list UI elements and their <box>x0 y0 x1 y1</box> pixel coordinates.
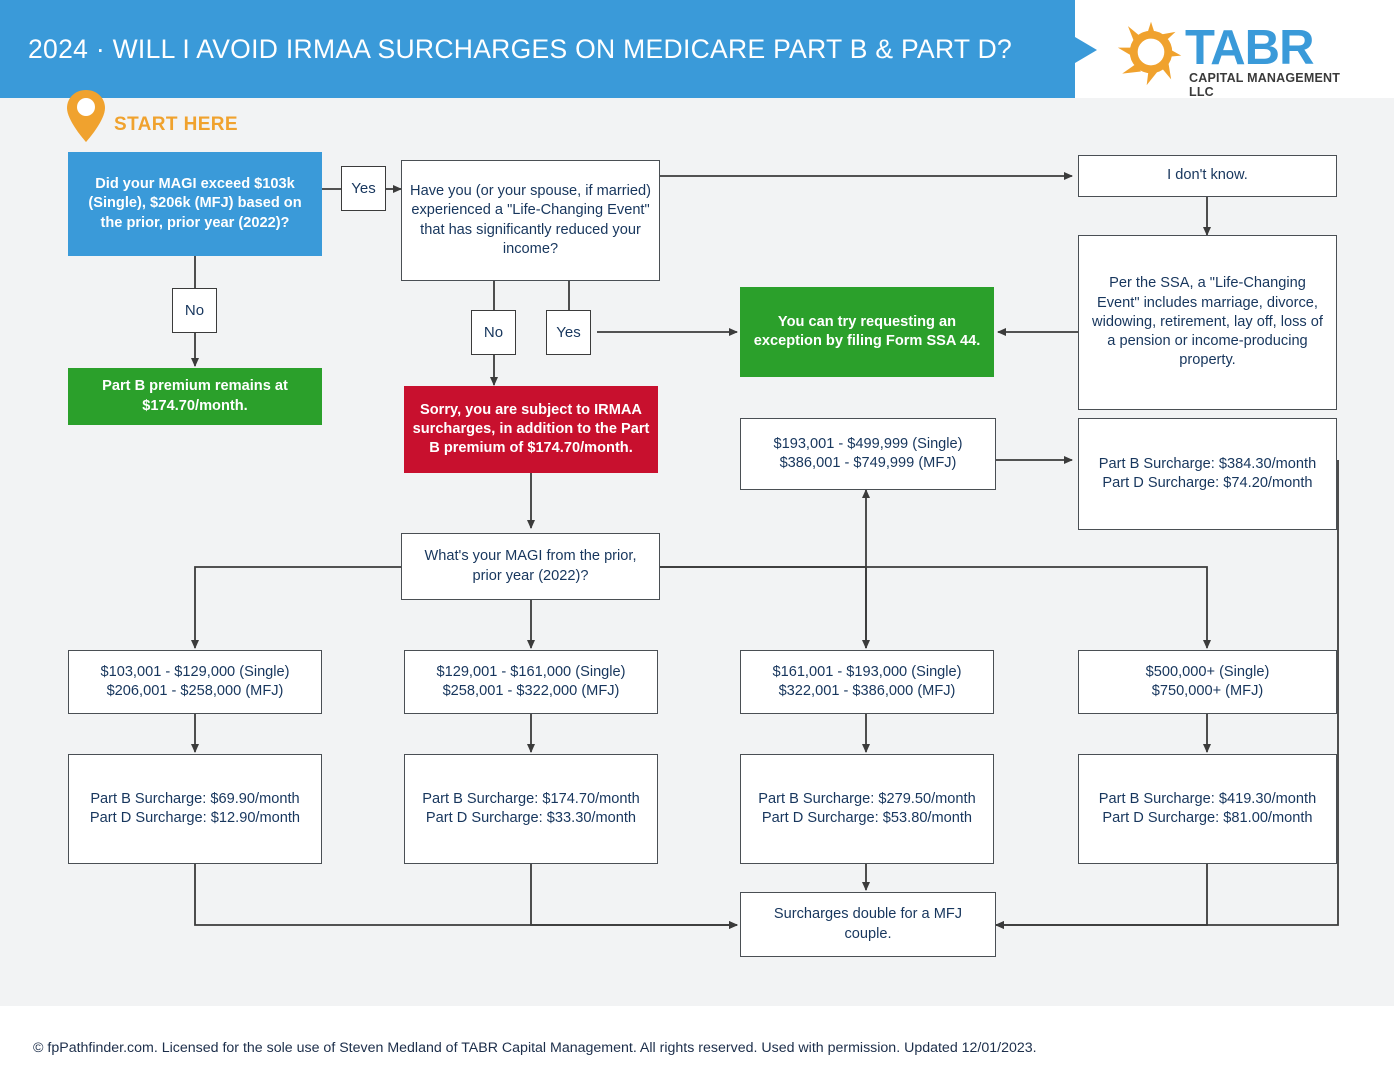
note-surcharges-double-mfj: Surcharges double for a MFJ couple. <box>740 892 996 957</box>
bracket-1-range-single: $103,001 - $129,000 (Single) <box>77 663 313 682</box>
question-magi-amount[interactable]: What's your MAGI from the prior, prior y… <box>401 533 660 600</box>
bracket-1-range-mfj: $206,001 - $258,000 (MFJ) <box>77 682 313 701</box>
bracket-4-part-d-value: $81.00/month <box>1223 810 1312 826</box>
bracket-2-part-d-label: Part D Surcharge: <box>426 810 543 826</box>
question-magi-amount-text: What's your MAGI from the prior, prior y… <box>402 547 659 586</box>
brand-logo: TABR CAPITAL MANAGEMENT LLC <box>1113 8 1363 92</box>
label-yes-2[interactable]: Yes <box>546 310 591 355</box>
bracket-top-range-single: $193,001 - $499,999 (Single) <box>749 435 987 454</box>
header-arrow-icon <box>1075 37 1097 63</box>
info-ssa-life-changing-event-definition: Per the SSA, a "Life-Changing Event" inc… <box>1078 235 1337 410</box>
question-life-changing-event[interactable]: Have you (or your spouse, if married) ex… <box>401 160 660 281</box>
bracket-2-range[interactable]: $129,001 - $161,000 (Single) $258,001 - … <box>404 650 658 714</box>
sunburst-icon <box>1115 16 1187 88</box>
label-no-2[interactable]: No <box>471 310 516 355</box>
bracket-3-surcharges: Part B Surcharge: $279.50/month Part D S… <box>740 754 994 864</box>
bracket-3-part-d-value: $53.80/month <box>883 810 972 826</box>
brand-name: TABR <box>1185 20 1313 76</box>
bracket-4-range-single: $500,000+ (Single) <box>1087 663 1328 682</box>
bracket-2-range-single: $129,001 - $161,000 (Single) <box>413 663 649 682</box>
question-life-changing-event-text: Have you (or your spouse, if married) ex… <box>402 182 659 259</box>
question-magi-exceed-text: Did your MAGI exceed $103k (Single), $20… <box>68 175 322 233</box>
bracket-2-range-mfj: $258,001 - $322,000 (MFJ) <box>413 682 649 701</box>
infographic-page: 2024 · WILL I AVOID IRMAA SURCHARGES ON … <box>0 0 1394 1078</box>
bracket-3-part-d-label: Part D Surcharge: <box>762 810 879 826</box>
bracket-3-part-b-label: Part B Surcharge: <box>758 791 874 807</box>
bracket-2-part-b-label: Part B Surcharge: <box>422 791 538 807</box>
bracket-4-surcharges: Part B Surcharge: $419.30/month Part D S… <box>1078 754 1337 864</box>
bracket-2-surcharges: Part B Surcharge: $174.70/month Part D S… <box>404 754 658 864</box>
footer-text: © fpPathfinder.com. Licensed for the sol… <box>33 1040 1037 1056</box>
bracket-2-part-b-value: $174.70/month <box>542 791 639 807</box>
map-pin-icon <box>65 88 107 144</box>
bracket-4-range[interactable]: $500,000+ (Single) $750,000+ (MFJ) <box>1078 650 1337 714</box>
bracket-3-range-single: $161,001 - $193,000 (Single) <box>749 663 985 682</box>
bracket-1-part-b-label: Part B Surcharge: <box>90 791 206 807</box>
bracket-1-part-d-label: Part D Surcharge: <box>90 810 207 826</box>
bracket-4-part-d-label: Part D Surcharge: <box>1102 810 1219 826</box>
bracket-1-surcharges: Part B Surcharge: $69.90/month Part D Su… <box>68 754 322 864</box>
start-here-label: START HERE <box>114 114 238 136</box>
bracket-1-part-b-value: $69.90/month <box>210 791 299 807</box>
bracket-top-range[interactable]: $193,001 - $499,999 (Single) $386,001 - … <box>740 418 996 490</box>
bracket-1-part-d-value: $12.90/month <box>211 810 300 826</box>
brand-subtitle: CAPITAL MANAGEMENT LLC <box>1189 71 1363 99</box>
bracket-3-range[interactable]: $161,001 - $193,000 (Single) $322,001 - … <box>740 650 994 714</box>
outcome-subject-to-irmaa: Sorry, you are subject to IRMAA surcharg… <box>404 386 658 473</box>
answer-i-dont-know[interactable]: I don't know. <box>1078 155 1337 197</box>
bracket-top-surcharges: Part B Surcharge: $384.30/month Part D S… <box>1078 418 1337 530</box>
question-magi-exceed[interactable]: Did your MAGI exceed $103k (Single), $20… <box>68 152 322 256</box>
bracket-top-part-b-value: $384.30/month <box>1219 456 1316 472</box>
bracket-top-part-d-label: Part D Surcharge: <box>1102 475 1219 491</box>
label-no-1[interactable]: No <box>172 288 217 333</box>
bracket-4-part-b-label: Part B Surcharge: <box>1099 791 1215 807</box>
bracket-1-range[interactable]: $103,001 - $129,000 (Single) $206,001 - … <box>68 650 322 714</box>
bracket-top-range-mfj: $386,001 - $749,999 (MFJ) <box>749 454 987 473</box>
bracket-2-part-d-value: $33.30/month <box>547 810 636 826</box>
outcome-request-exception-ssa44: You can try requesting an exception by f… <box>740 287 994 377</box>
bracket-top-part-b-label: Part B Surcharge: <box>1099 456 1215 472</box>
bracket-4-part-b-value: $419.30/month <box>1219 791 1316 807</box>
bracket-top-part-d-value: $74.20/month <box>1223 475 1312 491</box>
outcome-part-b-premium-remains: Part B premium remains at $174.70/month. <box>68 368 322 425</box>
bracket-3-part-b-value: $279.50/month <box>878 791 975 807</box>
label-yes-1[interactable]: Yes <box>341 166 386 211</box>
page-title: 2024 · WILL I AVOID IRMAA SURCHARGES ON … <box>28 34 1058 65</box>
bracket-4-range-mfj: $750,000+ (MFJ) <box>1087 682 1328 701</box>
bracket-3-range-mfj: $322,001 - $386,000 (MFJ) <box>749 682 985 701</box>
